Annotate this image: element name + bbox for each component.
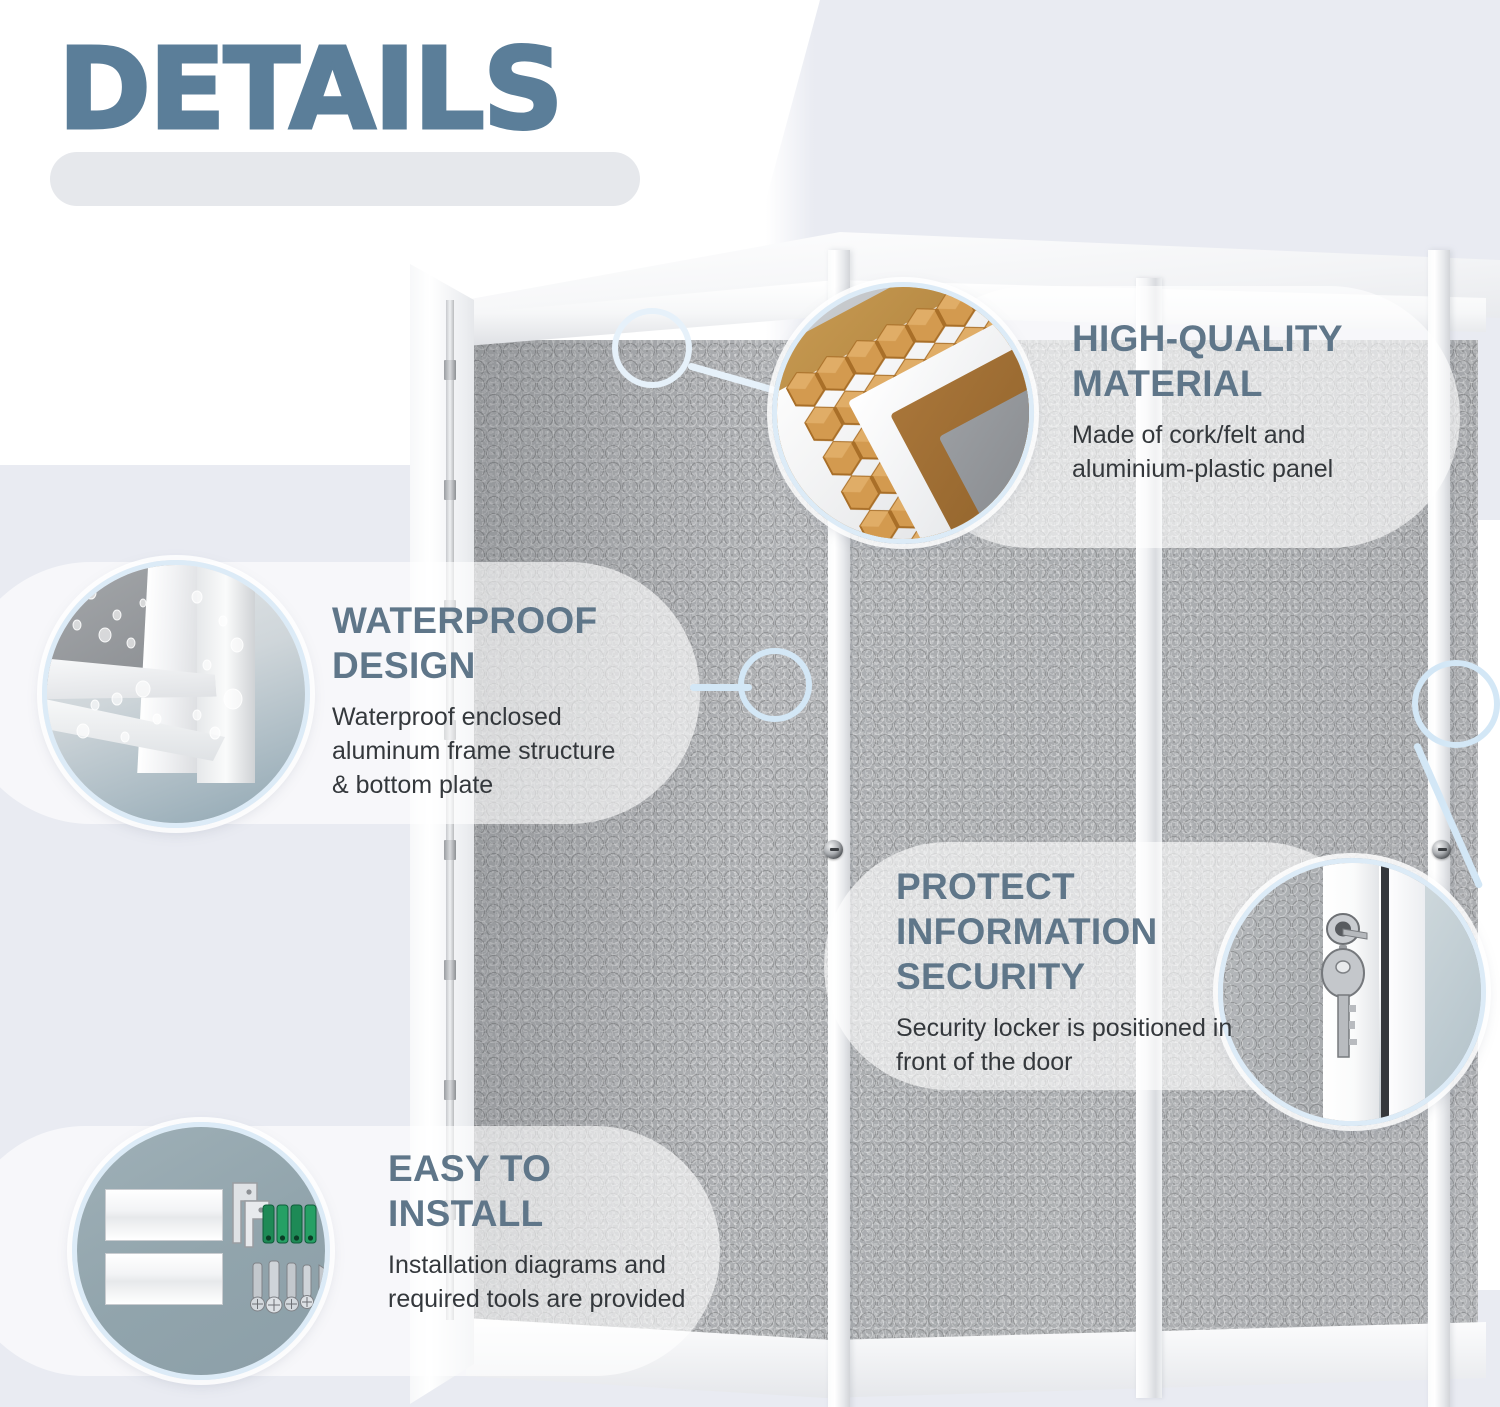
material-heading-line2: MATERIAL bbox=[1072, 361, 1492, 406]
install-body-line2: required tools are provided bbox=[388, 1282, 788, 1316]
waterproof-heading-line1: WATERPROOF bbox=[332, 598, 732, 643]
install-heading-line1: EASY TO bbox=[388, 1146, 788, 1191]
hinge-5 bbox=[444, 840, 456, 860]
page-title: DETAILS bbox=[58, 34, 562, 146]
material-pointer-ring bbox=[612, 308, 692, 388]
page-title-group: DETAILS bbox=[58, 34, 562, 146]
water-droplets-icon bbox=[47, 565, 309, 827]
install-photo bbox=[77, 1127, 325, 1375]
waterproof-photo bbox=[47, 565, 305, 823]
hinge-2 bbox=[444, 480, 456, 500]
hinge-1 bbox=[444, 360, 456, 380]
waterproof-pointer-ring bbox=[738, 648, 812, 722]
security-body-line1: Security locker is positioned in bbox=[896, 1011, 1296, 1045]
install-rail-2 bbox=[105, 1253, 223, 1305]
waterproof-body: Waterproof enclosed aluminum frame struc… bbox=[332, 700, 732, 802]
install-body: Installation diagrams and required tools… bbox=[388, 1248, 788, 1316]
material-callout-bubble bbox=[772, 282, 1034, 544]
waterproof-callout-bubble bbox=[42, 560, 310, 828]
security-heading-line1: PROTECT bbox=[896, 864, 1296, 909]
door-lock-2 bbox=[1432, 840, 1451, 859]
security-heading: PROTECT INFORMATION SECURITY bbox=[896, 864, 1296, 999]
security-heading-line3: SECURITY bbox=[896, 954, 1296, 999]
install-body-line1: Installation diagrams and bbox=[388, 1248, 788, 1282]
material-heading: HIGH-QUALITY MATERIAL bbox=[1072, 316, 1492, 406]
material-heading-line1: HIGH-QUALITY bbox=[1072, 316, 1492, 361]
install-heading-line2: INSTALL bbox=[388, 1191, 788, 1236]
install-rail-1 bbox=[105, 1189, 223, 1241]
material-body: Made of cork/felt and aluminium-plastic … bbox=[1072, 418, 1492, 486]
material-body-line1: Made of cork/felt and bbox=[1072, 418, 1492, 452]
waterproof-body-line2: aluminum frame structure bbox=[332, 734, 732, 768]
install-callout-bubble bbox=[72, 1122, 330, 1380]
security-pointer-ring bbox=[1412, 660, 1500, 748]
waterproof-body-line3: & bottom plate bbox=[332, 768, 732, 802]
security-text-block: PROTECT INFORMATION SECURITY Security lo… bbox=[896, 864, 1296, 1079]
material-photo bbox=[777, 287, 1029, 539]
waterproof-heading-line2: DESIGN bbox=[332, 643, 732, 688]
hinge-7 bbox=[444, 1080, 456, 1100]
screws-icon bbox=[249, 1259, 329, 1319]
security-body-line2: front of the door bbox=[896, 1045, 1296, 1079]
hinge-6 bbox=[444, 960, 456, 980]
security-heading-line2: INFORMATION bbox=[896, 909, 1296, 954]
material-body-line2: aluminium-plastic panel bbox=[1072, 452, 1492, 486]
door-lock-1 bbox=[824, 840, 843, 859]
lock-key-icon bbox=[1309, 907, 1401, 1077]
security-glass-reflection bbox=[1425, 863, 1486, 1126]
install-photo-background bbox=[77, 1127, 325, 1375]
material-text-block: HIGH-QUALITY MATERIAL Made of cork/felt … bbox=[1072, 316, 1492, 486]
waterproof-heading: WATERPROOF DESIGN bbox=[332, 598, 732, 688]
wall-anchor-icon bbox=[261, 1203, 319, 1247]
waterproof-text-block: WATERPROOF DESIGN Waterproof enclosed al… bbox=[332, 598, 732, 802]
install-text-block: EASY TO INSTALL Installation diagrams an… bbox=[388, 1146, 788, 1316]
security-body: Security locker is positioned in front o… bbox=[896, 1011, 1296, 1079]
install-heading: EASY TO INSTALL bbox=[388, 1146, 788, 1236]
title-underline-shape bbox=[50, 152, 640, 206]
waterproof-body-line1: Waterproof enclosed bbox=[332, 700, 732, 734]
